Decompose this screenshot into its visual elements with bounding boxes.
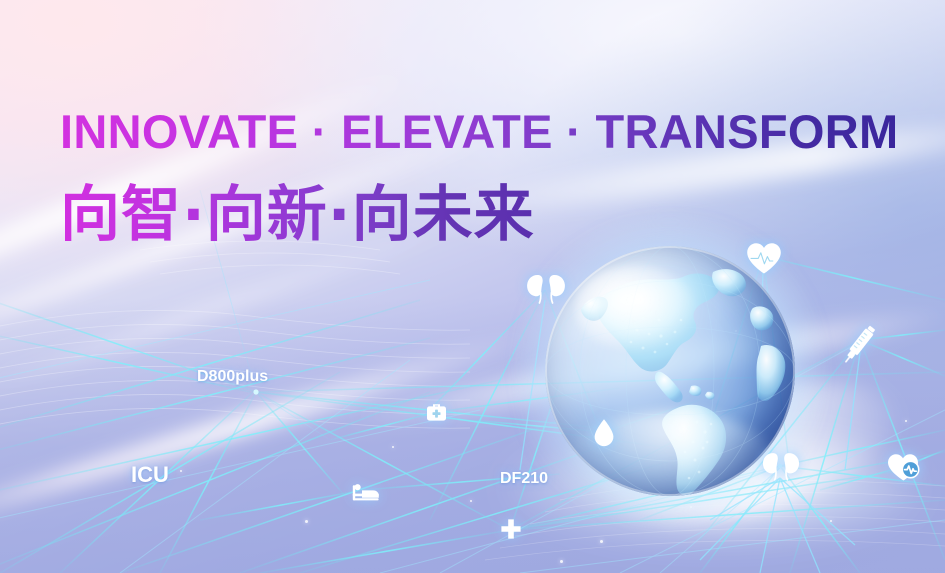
sparkle-dot bbox=[180, 470, 182, 472]
sparkle-dot bbox=[905, 420, 907, 422]
sparkle-dot bbox=[560, 560, 563, 563]
sparkle-dot bbox=[600, 540, 603, 543]
product-label-d800plus: D800plus bbox=[197, 368, 268, 386]
heart-pulse-icon bbox=[745, 241, 783, 275]
hero-banner: INNOVATE · ELEVATE · TRANSFORM 向智·向新·向未来… bbox=[0, 0, 945, 573]
sparkle-dot bbox=[470, 500, 472, 502]
headline-chinese: 向智·向新·向未来 bbox=[60, 166, 535, 253]
heart-monitor-icon bbox=[886, 452, 922, 482]
water-drop-icon bbox=[593, 418, 615, 448]
earth-globe bbox=[545, 246, 795, 496]
kidneys-icon bbox=[524, 272, 568, 306]
hospital-bed-icon bbox=[352, 482, 380, 501]
sparkle-dot bbox=[392, 446, 394, 448]
medical-cross-icon bbox=[500, 518, 522, 540]
headline-english: INNOVATE · ELEVATE · TRANSFORM bbox=[60, 104, 898, 159]
product-label-df210: DF210 bbox=[500, 470, 548, 488]
medical-kit-icon bbox=[426, 402, 447, 422]
kidneys-icon bbox=[760, 450, 802, 483]
sparkle-dot bbox=[830, 520, 832, 522]
sparkle-dot bbox=[305, 520, 308, 523]
product-label-icu: ICU bbox=[131, 462, 169, 488]
